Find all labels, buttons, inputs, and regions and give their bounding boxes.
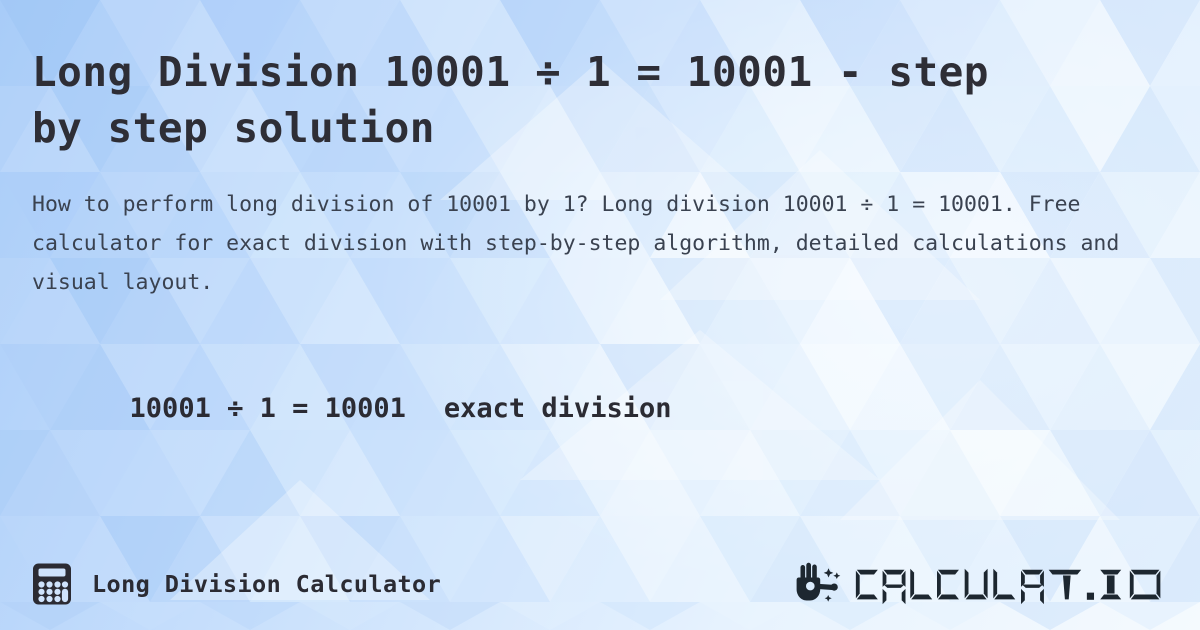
og-card: Long Division 10001 ÷ 1 = 10001 - step b… <box>0 0 1200 630</box>
division-result-note: exact division <box>444 393 672 424</box>
division-result-line: 10001 ÷ 1 = 10001exact division <box>32 358 671 460</box>
division-expression: 10001 ÷ 1 = 10001 <box>130 393 406 424</box>
page-description: How to perform long division of 10001 by… <box>32 185 1147 302</box>
page-title: Long Division 10001 ÷ 1 = 10001 - step b… <box>32 44 1042 156</box>
card-content: Long Division 10001 ÷ 1 = 10001 - step b… <box>0 0 1200 630</box>
